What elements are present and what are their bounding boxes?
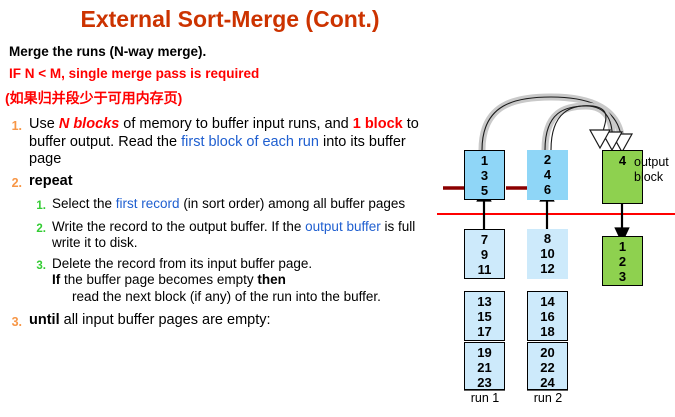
text-run-first-record: first record [116,196,180,211]
text-run-until: until [29,312,60,328]
text-run-one-block: 1 block [353,116,403,132]
cell-value: 4 [603,153,642,168]
cell-value: 4 [527,167,568,182]
text-run-if: If [52,272,60,287]
outline-list: 1. Use N blocks of memory to buffer inpu… [0,112,450,332]
cell-value: 23 [465,375,504,390]
cell-value: 17 [465,324,504,339]
text-run: all input buffer pages are empty: [60,312,271,328]
cell-value: 6 [527,182,568,197]
list-marker: 1. [0,116,22,136]
cell-value: 15 [465,309,504,324]
text-run-first-block: first block of each run [181,134,319,150]
cell-value: 1 [603,239,642,254]
text-run: Delete the record from its input buffer … [52,256,312,271]
cell-value: 21 [465,360,504,375]
list-marker: 2. [0,219,46,238]
merge-arc-run2 [545,106,622,150]
run1-disk-block-3: 19 21 23 [464,342,505,390]
cell-value: 2 [603,254,642,269]
cell-value: 13 [465,294,504,309]
list-item-text-repeat: repeat [29,173,450,191]
cell-value: 8 [527,231,568,246]
run2-label: run 2 [518,391,578,405]
list-item-text: Write the record to the output buffer. I… [52,219,450,252]
cell-value: 18 [528,324,567,339]
output-label-line2: block [634,170,669,185]
cell-value: 12 [527,261,568,276]
run2-disk-block-1: 8 10 12 [527,229,568,279]
text-run: Write the record to the output buffer. I… [52,219,305,234]
text-run: Use [29,116,59,132]
list-marker: 1. [0,196,46,215]
text-run: the buffer page becomes empty [60,272,257,287]
run1-label: run 1 [455,391,515,405]
header-condition: IF N < M, single merge pass is required [9,66,259,81]
text-run: read the next block (if any) of the run … [72,289,381,304]
merge-arc-run1 [482,97,632,152]
list-item-1: 1. Use N blocks of memory to buffer inpu… [0,116,450,169]
cell-value: 19 [465,345,504,360]
cell-value: 9 [465,247,504,262]
text-run-output-buffer: output buffer [305,219,381,234]
text-run-n-blocks: N blocks [59,116,119,132]
list-item-text: until all input buffer pages are empty: [29,312,450,330]
text-run: (in sort order) among all buffer pages [180,196,406,211]
output-block-label: output block [634,155,669,185]
text-run: of memory to buffer input runs, and [119,116,352,132]
cell-value: 22 [528,360,567,375]
list-item-2: 2. repeat [0,173,450,193]
cell-value: 1 [465,153,504,168]
run2-disk-block-3: 20 22 24 [527,342,568,390]
cell-value: 3 [603,269,642,284]
cell-value: 14 [528,294,567,309]
cell-value: 10 [527,246,568,261]
run1-disk-block-1: 7 9 11 [464,229,505,279]
cell-value: 3 [465,168,504,183]
run2-buffer-block: 2 4 6 [527,150,568,200]
cell-value: 16 [528,309,567,324]
cell-value: 20 [528,345,567,360]
cell-value: 11 [465,262,504,277]
list-item-2-1: 1. Select the first record (in sort orde… [0,196,450,215]
output-written-block: 1 2 3 [602,236,643,286]
output-buffer-block: 4 [602,150,643,204]
list-item-text: Select the first record (in sort order) … [52,196,450,213]
cell-value: 24 [528,375,567,390]
list-item-2-2: 2. Write the record to the output buffer… [0,219,450,252]
list-item-text: Use N blocks of memory to buffer input r… [29,116,450,169]
list-marker: 3. [0,256,46,275]
list-marker: 2. [0,173,22,193]
list-item-text: Delete the record from its input buffer … [52,256,450,306]
cell-value: 2 [527,152,568,167]
header-merge-runs: Merge the runs (N-way merge). [9,44,206,59]
cell-value: 7 [465,232,504,247]
cell-value: 5 [465,183,504,198]
run1-disk-block-2: 13 15 17 [464,291,505,341]
run2-disk-block-2: 14 16 18 [527,291,568,341]
list-item-2-3: 3. Delete the record from its input buff… [0,256,450,306]
run1-buffer-block: 1 3 5 [464,150,505,200]
text-run: Select the [52,196,116,211]
output-label-line1: output [634,155,669,170]
page-title: External Sort-Merge (Cont.) [0,6,460,33]
list-item-3: 3. until all input buffer pages are empt… [0,312,450,332]
list-marker: 3. [0,312,22,332]
header-condition-chinese: (如果归并段少于可用内存页) [5,88,182,108]
merge-arc-outline [551,106,610,150]
text-run-then: then [257,272,286,287]
